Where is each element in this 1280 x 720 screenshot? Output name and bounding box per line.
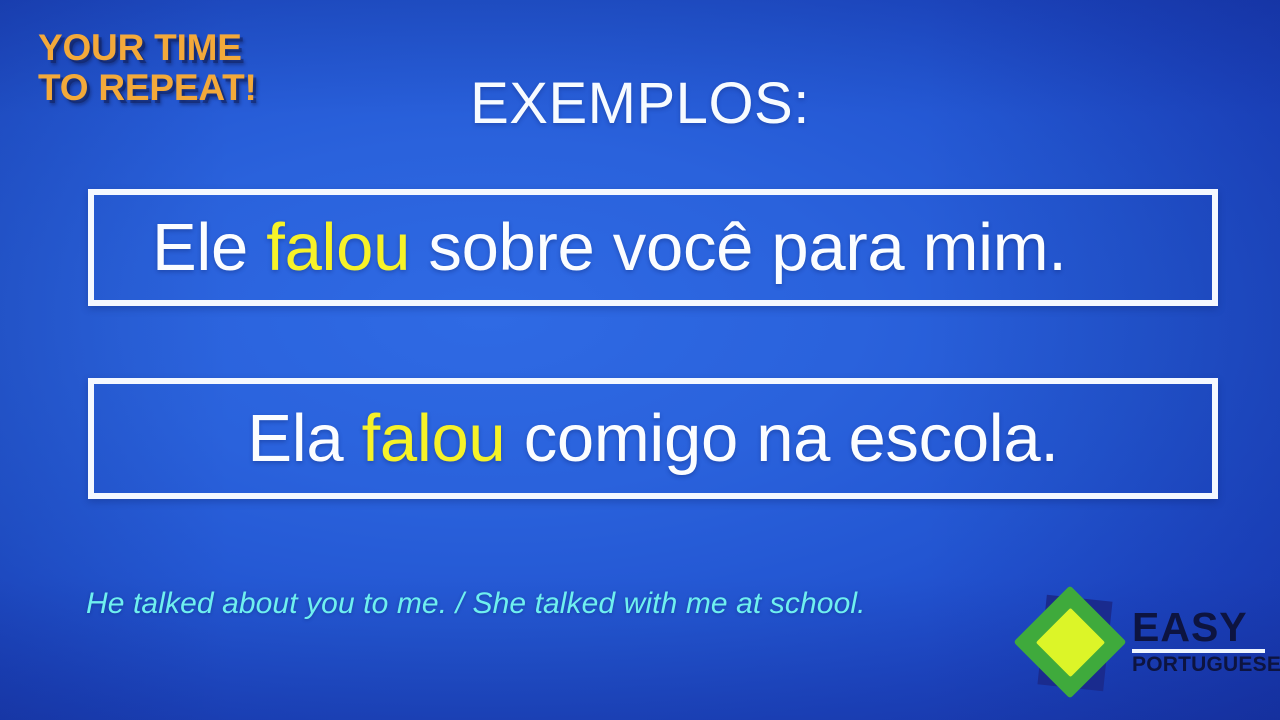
- easy-portuguese-logo: EASY PORTUGUESE: [1020, 588, 1262, 698]
- example-1-after: sobre você para mim.: [410, 210, 1067, 285]
- logo-wordmark: EASY PORTUGUESE: [1132, 607, 1280, 680]
- example-sentence-1: Ele falou sobre você para mim.: [152, 212, 1067, 284]
- example-2-before: Ela: [247, 401, 361, 476]
- badge-line-2: TO REPEAT!: [38, 68, 338, 108]
- badge-line-1: YOUR TIME: [38, 28, 338, 68]
- example-box-1: Ele falou sobre você para mim.: [88, 189, 1218, 306]
- example-1-highlight: falou: [266, 210, 410, 285]
- your-time-to-repeat-badge: YOUR TIME TO REPEAT!: [38, 28, 338, 108]
- page-title-text: EXEMPLOS:: [470, 72, 810, 136]
- logo-portuguese-text: PORTUGUESE: [1132, 654, 1280, 676]
- slide-canvas: YOUR TIME TO REPEAT! EXEMPLOS: Ele falou…: [0, 0, 1280, 720]
- translation-text: He talked about you to me. / She talked …: [86, 583, 866, 625]
- example-2-highlight: falou: [362, 401, 506, 476]
- example-1-before: Ele: [152, 210, 266, 285]
- example-box-2: Ela falou comigo na escola.: [88, 378, 1218, 499]
- example-sentence-2: Ela falou comigo na escola.: [247, 403, 1058, 475]
- example-2-after: comigo na escola.: [505, 401, 1058, 476]
- logo-easy-text: EASY: [1132, 607, 1280, 647]
- logo-diamond-icon: [1020, 590, 1126, 696]
